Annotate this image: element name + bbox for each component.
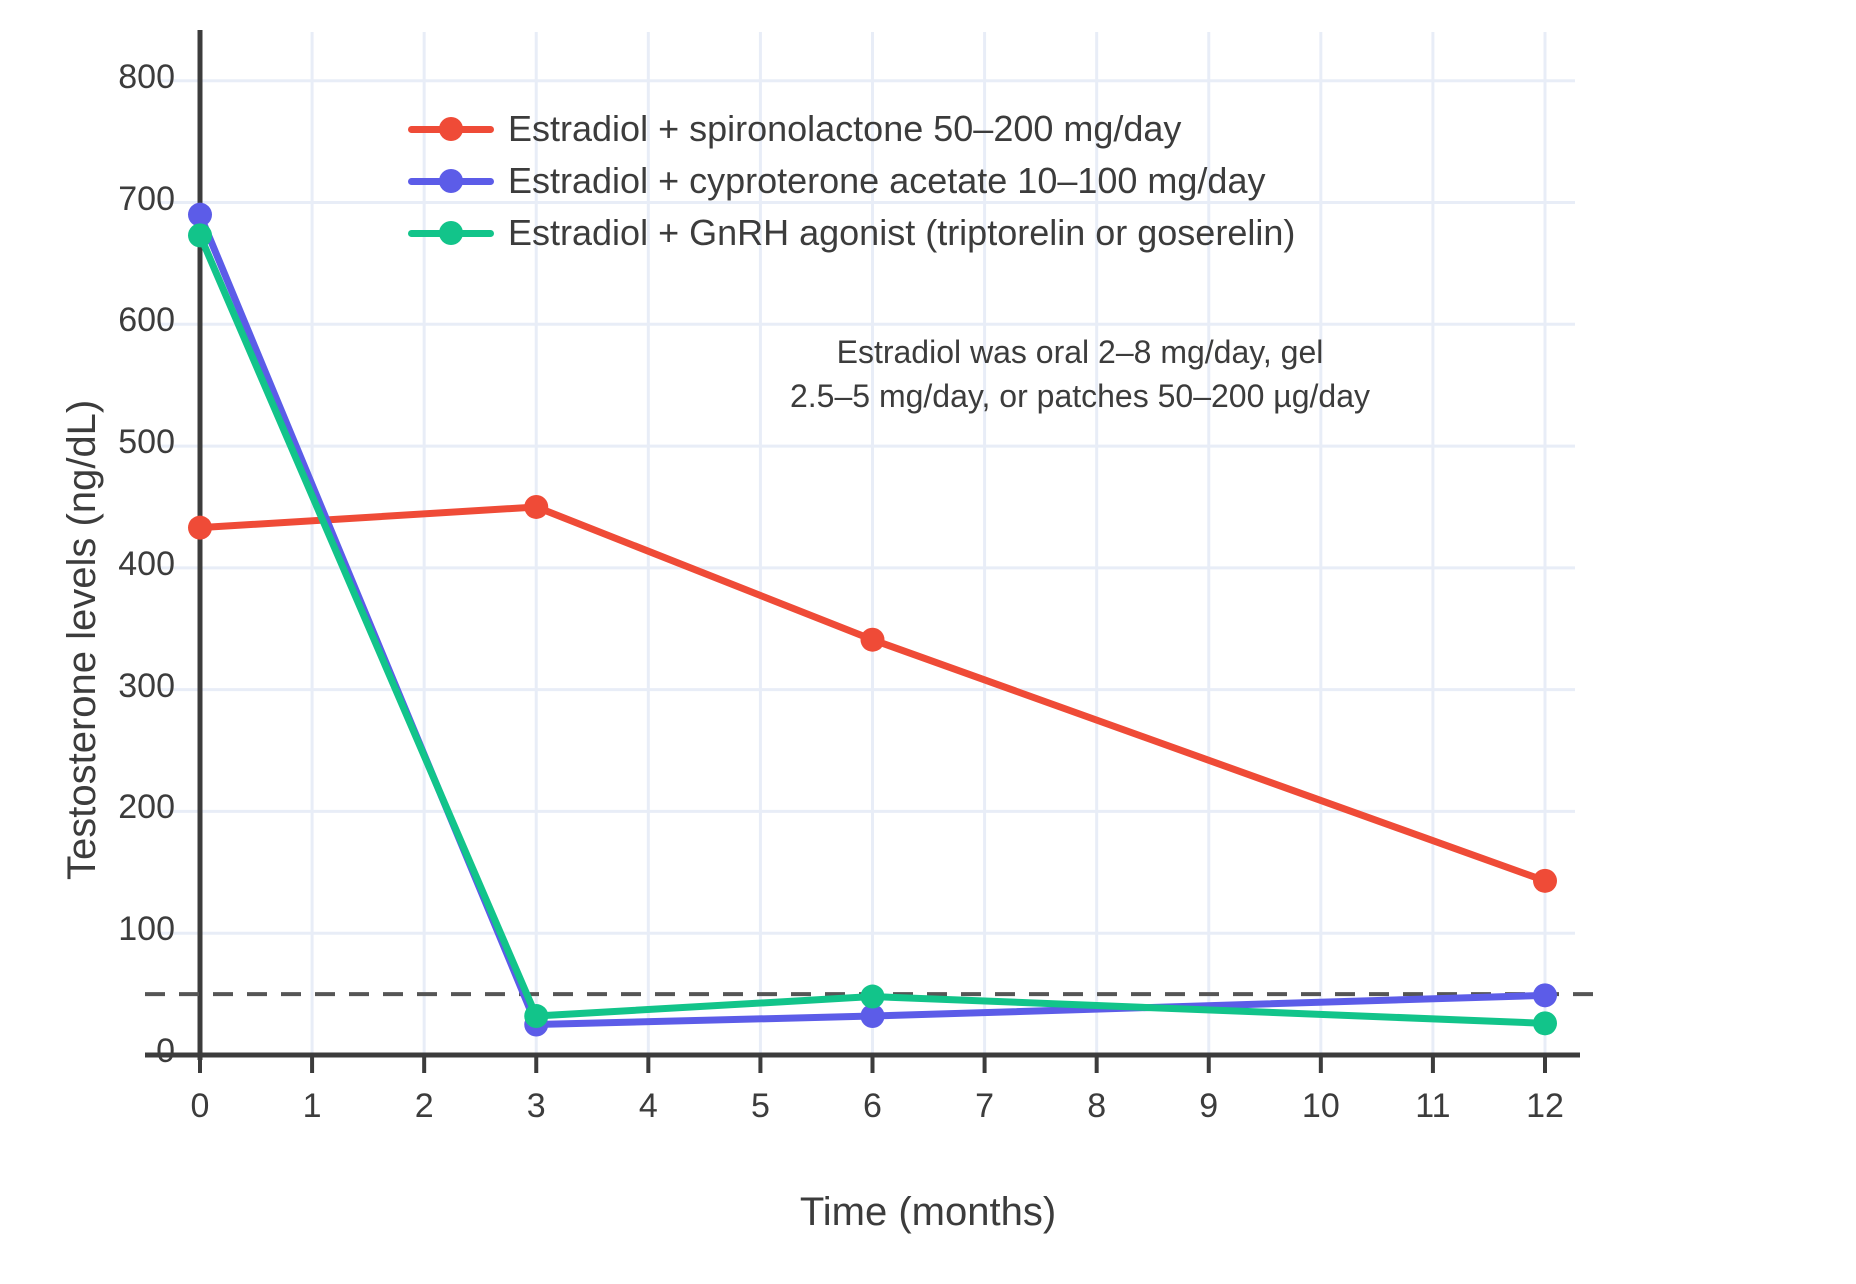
data-point-marker bbox=[524, 495, 548, 519]
legend-marker-icon bbox=[408, 166, 494, 196]
x-tick-label: 10 bbox=[1271, 1087, 1371, 1126]
estradiol-dosing-note: Estradiol was oral 2–8 mg/day, gel 2.5–5… bbox=[760, 330, 1400, 418]
chart-figure: Testosterone levels (ng/dL) Time (months… bbox=[0, 0, 1856, 1284]
chart-legend: Estradiol + spironolactone 50–200 mg/day… bbox=[408, 103, 1295, 259]
x-tick-label: 8 bbox=[1047, 1087, 1147, 1126]
annotation-line-1: Estradiol was oral 2–8 mg/day, gel bbox=[760, 330, 1400, 374]
x-tick-label: 11 bbox=[1383, 1087, 1483, 1126]
y-tick-label: 400 bbox=[15, 545, 175, 584]
data-point-marker bbox=[861, 628, 885, 652]
legend-item[interactable]: Estradiol + GnRH agonist (triptorelin or… bbox=[408, 207, 1295, 259]
x-tick-label: 5 bbox=[710, 1087, 810, 1126]
x-tick-label: 1 bbox=[262, 1087, 362, 1126]
y-tick-label: 200 bbox=[15, 788, 175, 827]
y-tick-label: 700 bbox=[15, 180, 175, 219]
legend-label: Estradiol + cyproterone acetate 10–100 m… bbox=[508, 160, 1265, 202]
data-point-marker bbox=[861, 985, 885, 1009]
x-tick-label: 2 bbox=[374, 1087, 474, 1126]
legend-item[interactable]: Estradiol + cyproterone acetate 10–100 m… bbox=[408, 155, 1295, 207]
data-point-marker bbox=[1533, 1011, 1557, 1035]
x-tick-label: 9 bbox=[1159, 1087, 1259, 1126]
y-tick-label: 100 bbox=[15, 910, 175, 949]
data-point-marker bbox=[1533, 983, 1557, 1007]
y-tick-label: 600 bbox=[15, 301, 175, 340]
y-tick-label: 0 bbox=[15, 1032, 175, 1071]
data-point-marker bbox=[524, 1004, 548, 1028]
x-tick-label: 4 bbox=[598, 1087, 698, 1126]
y-tick-label: 300 bbox=[15, 667, 175, 706]
legend-item[interactable]: Estradiol + spironolactone 50–200 mg/day bbox=[408, 103, 1295, 155]
x-tick-label: 7 bbox=[935, 1087, 1035, 1126]
x-tick-label: 6 bbox=[823, 1087, 923, 1126]
y-tick-label: 800 bbox=[15, 58, 175, 97]
x-axis-title: Time (months) bbox=[0, 1190, 1856, 1235]
data-point-marker bbox=[188, 203, 212, 227]
x-tick-label: 3 bbox=[486, 1087, 586, 1126]
legend-marker-icon bbox=[408, 114, 494, 144]
legend-marker-icon bbox=[408, 218, 494, 248]
x-tick-label: 12 bbox=[1495, 1087, 1595, 1126]
data-point-marker bbox=[188, 223, 212, 247]
data-point-marker bbox=[1533, 869, 1557, 893]
annotation-line-2: 2.5–5 mg/day, or patches 50–200 µg/day bbox=[760, 374, 1400, 418]
legend-label: Estradiol + GnRH agonist (triptorelin or… bbox=[508, 212, 1295, 254]
legend-label: Estradiol + spironolactone 50–200 mg/day bbox=[508, 108, 1181, 150]
x-tick-label: 0 bbox=[150, 1087, 250, 1126]
data-point-marker bbox=[188, 516, 212, 540]
y-tick-label: 500 bbox=[15, 423, 175, 462]
